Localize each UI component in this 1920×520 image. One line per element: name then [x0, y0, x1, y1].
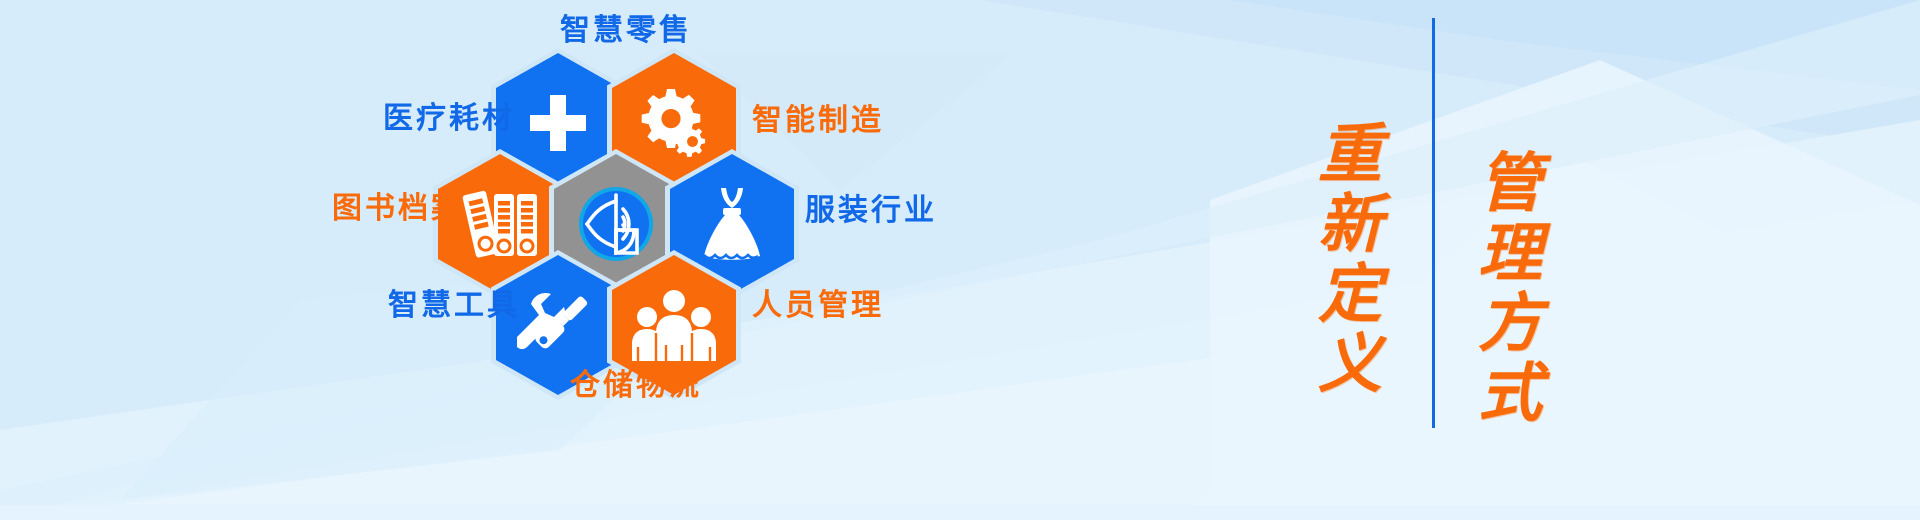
label-smart-manufacturing: 智能制造: [752, 106, 884, 136]
slogan-char: 义: [1318, 332, 1382, 398]
people-group-icon: [632, 289, 716, 361]
slogan-char: 定: [1318, 262, 1382, 328]
slogan-char: 方: [1478, 291, 1542, 357]
slogan-char: 新: [1318, 192, 1382, 258]
slogan-block: 重 新 定 义 管 理 方 式: [1290, 0, 1620, 520]
slogan-char: 管: [1478, 151, 1542, 217]
slogan-column-right: 管 理 方 式: [1450, 0, 1570, 520]
slogan-divider: [1432, 18, 1435, 428]
background-decoration: [0, 0, 1920, 520]
medical-cross-icon: [524, 89, 592, 157]
label-smart-tools: 智慧工具: [388, 291, 520, 321]
label-personnel-management: 人员管理: [752, 291, 884, 321]
book-binders-icon: [460, 186, 540, 262]
label-medical-consumables: 医疗耗材: [383, 104, 515, 134]
banner-canvas: 智慧零售 医疗耗材 智能制造 图书档案 服装行业 智慧工具 人员管理 仓储物流 …: [0, 0, 1920, 520]
slogan-char: 重: [1318, 122, 1382, 188]
slogan-char: 式: [1478, 361, 1542, 427]
slogan-column-left: 重 新 定 义: [1290, 0, 1410, 520]
wrench-screwdriver-icon: [517, 284, 599, 366]
rfid-signal-logo-icon: [575, 183, 657, 265]
label-apparel-industry: 服装行业: [805, 196, 937, 226]
dress-icon: [695, 184, 769, 264]
label-library-archives: 图书档案: [332, 194, 464, 224]
label-smart-retail: 智慧零售: [560, 16, 692, 46]
label-warehouse-logistics: 仓储物流: [570, 371, 702, 401]
gears-icon: [636, 87, 712, 159]
slogan-char: 理: [1478, 221, 1542, 287]
